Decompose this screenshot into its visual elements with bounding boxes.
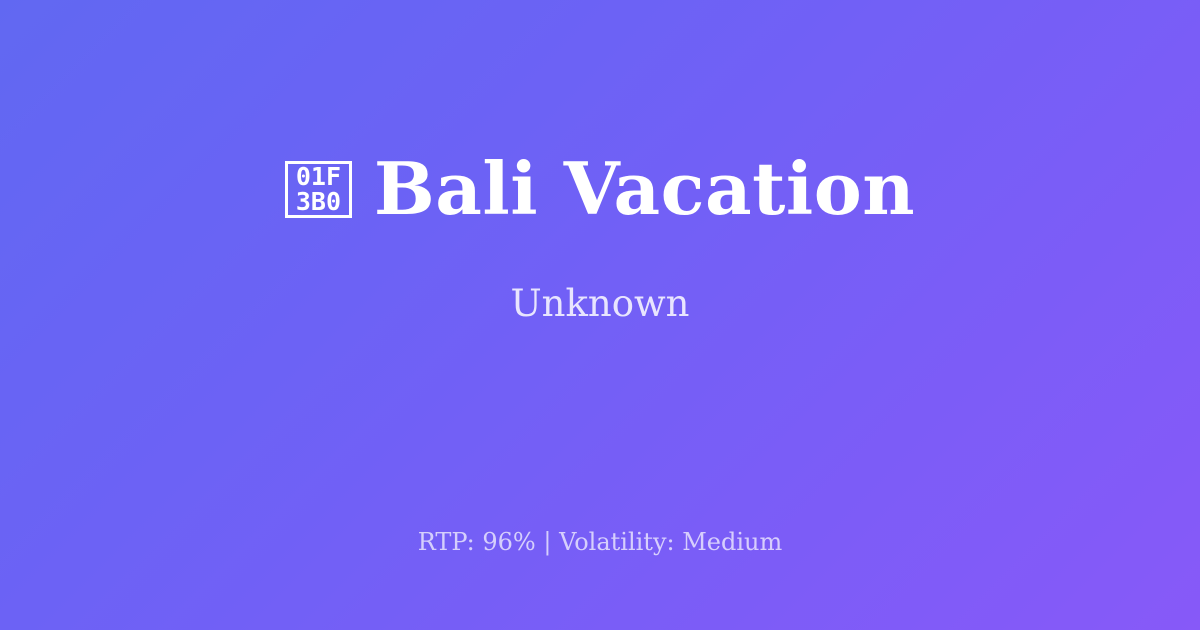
slot-machine-emoji-icon: 01F 3B0	[285, 161, 352, 218]
slot-machine-emoji-icon-codepoint-high: 01F	[296, 164, 341, 189]
game-meta-line: RTP: 96% | Volatility: Medium	[0, 525, 1200, 559]
game-title: Bali Vacation	[374, 150, 915, 228]
card-content-stack: 01F 3B0 Bali Vacation Unknown	[0, 0, 1200, 500]
title-row: 01F 3B0 Bali Vacation	[285, 150, 915, 228]
slot-machine-emoji-icon-codepoint-low: 3B0	[296, 189, 341, 214]
game-og-card: 01F 3B0 Bali Vacation Unknown RTP: 96% |…	[0, 0, 1200, 630]
game-provider: Unknown	[510, 282, 689, 326]
